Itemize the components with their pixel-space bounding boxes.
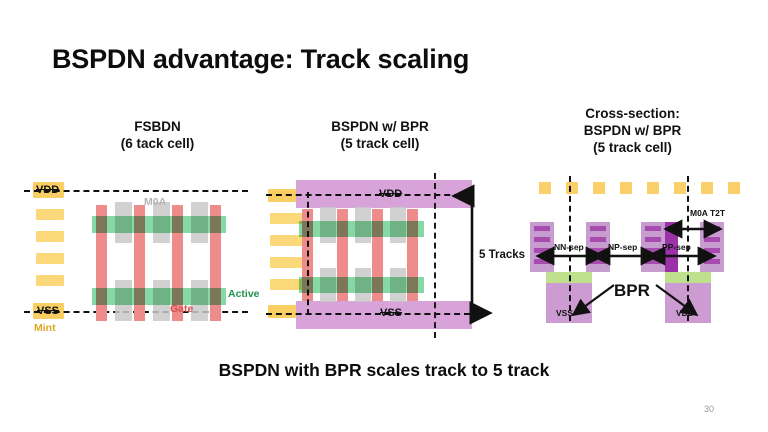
bspdn-vss-label: VSS	[380, 307, 402, 319]
fsbdn-active-bar-lower	[92, 288, 226, 305]
xsect-fin3-stripe-2	[645, 237, 661, 242]
slide-canvas: BSPDN advantage: Track scaling FSBDN (6 …	[0, 0, 768, 432]
bspdn-active-bar-lower	[299, 277, 424, 293]
xsect-m0a-t2t-label: M0A T2T	[690, 208, 725, 218]
fsbdn-mint-bar-5	[36, 275, 64, 286]
xsect-bpr-label: BPR	[614, 281, 650, 301]
xsect-m0a-square-1	[539, 182, 551, 194]
xsect-fin1-stripe-2	[534, 237, 550, 242]
bspdn-cell-centerline	[434, 173, 436, 338]
fsbdn-m0a-label: M0A	[144, 196, 166, 208]
fsbdn-heading-line2: (6 tack cell)	[95, 135, 220, 152]
xsect-sep-label-pp: PP-sep	[662, 242, 691, 252]
fsbdn-mint-bar-3	[36, 231, 64, 242]
xsect-fin2-stripe-2	[590, 237, 606, 242]
bspdn-tracks-label: 5 Tracks	[479, 249, 525, 261]
bspdn-heading-line2: (5 track cell)	[300, 135, 460, 152]
page-title: BSPDN advantage: Track scaling	[52, 44, 469, 75]
fsbdn-vss-label: VSS	[37, 305, 59, 317]
xsect-fin3-stripe-1	[645, 226, 661, 231]
xsect-fin1-stripe-1	[534, 226, 550, 231]
fsbdn-vdd-label: VDD	[36, 184, 59, 196]
fsbdn-heading-line1: FSBDN	[95, 118, 220, 135]
slide-caption: BSPDN with BPR scales track to 5 track	[0, 360, 768, 381]
xsect-m0a-square-5	[647, 182, 659, 194]
xsect-m0a-square-8	[728, 182, 740, 194]
xsect-fin2-stripe-1	[590, 226, 606, 231]
bspdn-mint-bar-2	[270, 213, 302, 224]
xsect-m0a-square-4	[620, 182, 632, 194]
bspdn-vdd-label: VDD	[379, 188, 402, 200]
panel-heading-cross-section: Cross-section: BSPDN w/ BPR (5 track cel…	[545, 105, 720, 156]
bspdn-mint-bar-3	[270, 235, 302, 246]
bspdn-cell-boundary-left	[307, 192, 309, 315]
bspdn-heading-line1: BSPDN w/ BPR	[300, 118, 460, 135]
bspdn-active-bar-upper	[299, 221, 424, 237]
bspdn-mint-bar-4	[270, 257, 302, 268]
panel-heading-bspdn: BSPDN w/ BPR (5 track cell)	[300, 118, 460, 152]
fsbdn-mint-bar-2	[36, 209, 64, 220]
fsbdn-active-bar-upper	[92, 216, 226, 233]
fsbdn-mint-bar-4	[36, 253, 64, 264]
bspdn-mint-bar-5	[270, 279, 302, 290]
xsect-sep-label-np: NP-sep	[608, 242, 637, 252]
bspdn-vdd-rail-line	[266, 194, 470, 196]
xsect-heading-line3: (5 track cell)	[545, 139, 720, 156]
xsect-m0a-square-3	[593, 182, 605, 194]
xsect-m0a-t2t-arrow	[676, 222, 712, 238]
xsect-m0a-square-6	[674, 182, 686, 194]
page-number: 30	[704, 404, 714, 414]
fsbdn-mint-label: Mint	[34, 322, 56, 334]
xsect-heading-line2: BSPDN w/ BPR	[545, 122, 720, 139]
panel-heading-fsbdn: FSBDN (6 tack cell)	[95, 118, 220, 152]
xsect-heading-line1: Cross-section:	[545, 105, 720, 122]
fsbdn-gate-label: Gate	[170, 303, 193, 315]
xsect-m0a-square-7	[701, 182, 713, 194]
bspdn-vss-rail-line	[266, 313, 470, 315]
xsect-m0a-square-2	[566, 182, 578, 194]
xsect-sep-label-nn: NN-sep	[554, 242, 584, 252]
fsbdn-active-label: Active	[228, 288, 260, 300]
